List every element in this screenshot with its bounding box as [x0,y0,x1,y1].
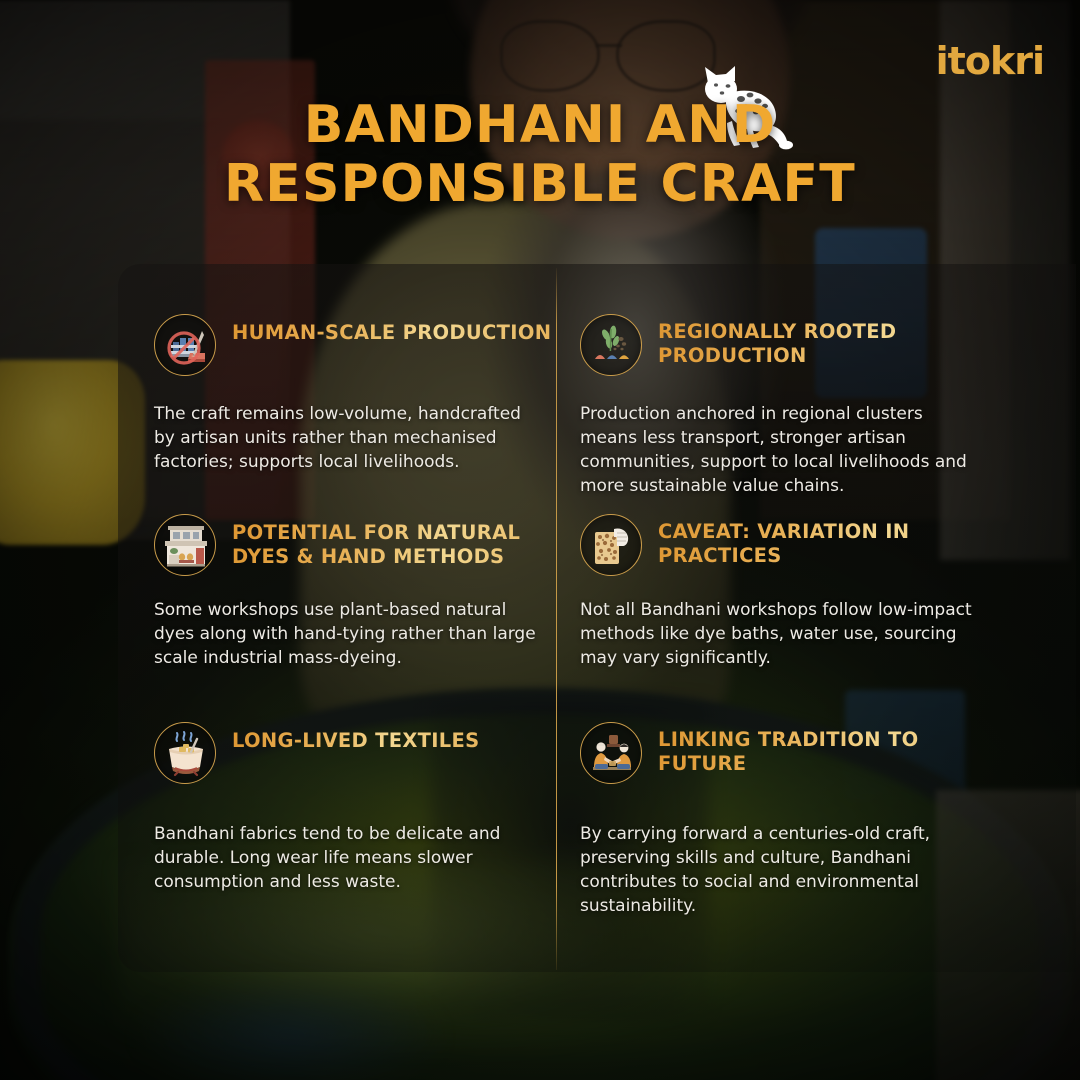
plant-sprout-pigments-icon [580,314,642,376]
page-title: BANDHANI AND RESPONSIBLE CRAFT [0,96,1080,214]
card-header: POTENTIAL FOR NATURAL DYES & HAND METHOD… [154,514,564,576]
card-title: REGIONALLY ROOTED PRODUCTION [658,314,1010,368]
card-body: Bandhani fabrics tend to be delicate and… [154,822,546,894]
two-seated-artisans-icon [580,722,642,784]
card-regionally-rooted-production: REGIONALLY ROOTED PRODUCTION Production … [580,314,1010,499]
card-caveat-variation-in-practices: CAVEAT: VARIATION IN PRACTICES Not all B… [580,514,1010,670]
card-title: LONG-LIVED TEXTILES [232,722,480,753]
card-long-lived-textiles: LONG-LIVED TEXTILES Bandhani fabrics ten… [154,722,564,894]
card-header: HUMAN-SCALE PRODUCTION [154,314,564,376]
card-body: Some workshops use plant-based natural d… [154,598,546,670]
card-body: Production anchored in regional clusters… [580,402,984,499]
card-title: HUMAN-SCALE PRODUCTION [232,314,551,345]
card-body: By carrying forward a centuries-old craf… [580,822,984,919]
card-title: CAVEAT: VARIATION IN PRACTICES [658,514,1010,568]
page-title-line-1: BANDHANI AND [120,96,960,155]
card-human-scale-production: HUMAN-SCALE PRODUCTION The craft remains… [154,314,564,474]
page-title-line-2: RESPONSIBLE CRAFT [120,155,960,214]
card-body: Not all Bandhani workshops follow low-im… [580,598,984,670]
card-body: The craft remains low-volume, handcrafte… [154,402,546,474]
card-potential-for-natural-dyes: POTENTIAL FOR NATURAL DYES & HAND METHOD… [154,514,564,670]
itokri-logo[interactable]: itokri [936,42,1044,80]
steaming-dye-pot-icon [154,722,216,784]
card-header: LINKING TRADITION TO FUTURE [580,722,1010,784]
card-header: REGIONALLY ROOTED PRODUCTION [580,314,1010,376]
card-title: POTENTIAL FOR NATURAL DYES & HAND METHOD… [232,514,564,569]
no-factory-icon [154,314,216,376]
card-header: LONG-LIVED TEXTILES [154,722,564,784]
card-title: LINKING TRADITION TO FUTURE [658,722,1010,776]
card-linking-tradition-to-future: LINKING TRADITION TO FUTURE By carrying … [580,722,1010,919]
artisan-workshop-building-icon [154,514,216,576]
feature-card-grid: HUMAN-SCALE PRODUCTION The craft remains… [118,264,1076,972]
card-header: CAVEAT: VARIATION IN PRACTICES [580,514,1010,576]
hand-holding-fabric-swatch-icon [580,514,642,576]
